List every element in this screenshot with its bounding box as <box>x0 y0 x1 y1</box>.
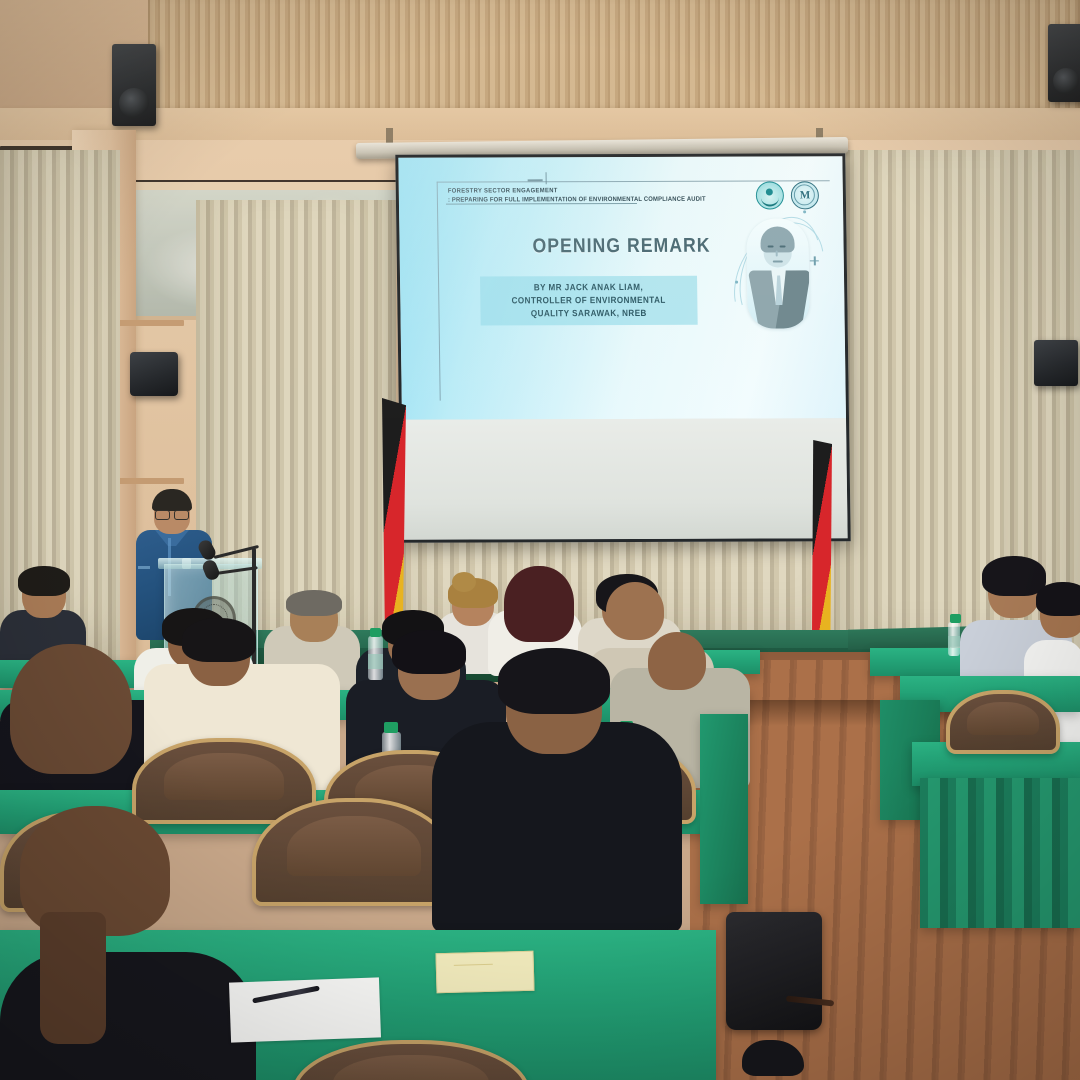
slide-subtitle-line-3: QUALITY SARAWAK, NREB <box>495 306 683 319</box>
presenter-hair <box>152 489 192 511</box>
backpack <box>726 912 822 1030</box>
yellow-notepad <box>435 951 534 994</box>
slide-header-line-1: FORESTRY SECTOR ENGAGEMENT <box>448 187 710 195</box>
speaker-cone <box>1053 68 1079 94</box>
dot-accent-icon <box>803 210 806 213</box>
bottle-label <box>948 636 960 648</box>
audience-hair <box>182 618 256 662</box>
conference-hall-photo: FORESTRY SECTOR ENGAGEMENT : PREPARING F… <box>0 0 1080 1080</box>
environment-board-logo-icon <box>755 181 783 209</box>
audience-hair <box>10 644 132 774</box>
portrait-hair <box>760 226 794 252</box>
table-skirt <box>920 778 1080 928</box>
audience-hair <box>498 648 610 714</box>
slide-subtitle-box: BY MR JACK ANAK LIAM, CONTROLLER OF ENVI… <box>480 276 697 326</box>
monogram-glyph: M <box>800 189 810 201</box>
loudspeaker-icon <box>1034 340 1078 386</box>
slide-subtitle-line-1: BY MR JACK ANAK LIAM, <box>494 281 682 294</box>
presenter-sleeve-stripe <box>138 566 150 569</box>
loudspeaker-icon <box>112 44 156 126</box>
audience-ponytail <box>40 912 106 1044</box>
audience-hair <box>504 566 574 642</box>
screen-blank-area <box>402 418 848 540</box>
loudspeaker-icon <box>1048 24 1080 102</box>
projection-screen: FORESTRY SECTOR ENGAGEMENT : PREPARING F… <box>358 140 838 530</box>
bottle-label <box>368 654 383 669</box>
audience-hair <box>982 556 1046 596</box>
audience-hair <box>1036 582 1080 616</box>
audience-hair <box>18 566 70 596</box>
slide-footnote-line-1 <box>450 382 494 390</box>
audience-torso <box>0 952 256 1080</box>
banquet-chair <box>946 690 1060 754</box>
speaker-cone <box>119 88 149 118</box>
portrait-mouth <box>773 260 783 262</box>
water-bottle <box>948 622 960 656</box>
speaker-portrait-illustration <box>740 214 816 332</box>
slide-header: FORESTRY SECTOR ENGAGEMENT : PREPARING F… <box>448 187 732 203</box>
slide-footnote-line-2 <box>450 390 494 398</box>
water-bottle <box>368 636 383 680</box>
portrait-nose <box>776 250 778 256</box>
audience-head <box>606 582 664 640</box>
table-skirt <box>700 714 748 904</box>
slide-header-line-2: : PREPARING FOR FULL IMPLEMENTATION OF E… <box>448 195 710 203</box>
screen-surface: FORESTRY SECTOR ENGAGEMENT : PREPARING F… <box>395 153 850 543</box>
audience-hair-bun <box>452 572 476 592</box>
dot-accent-icon <box>735 280 738 283</box>
audience-head <box>648 632 706 690</box>
ribbed-ceiling-panel <box>148 0 1080 118</box>
portrait-eye <box>780 245 786 248</box>
glasses-icon <box>155 510 189 518</box>
notepad-rule <box>454 963 492 965</box>
portrait-frame <box>746 218 810 328</box>
bottle-cap <box>370 628 381 637</box>
bottle-cap <box>384 722 398 733</box>
slide-tick-mark <box>545 172 547 184</box>
sarawak-flag <box>812 440 832 640</box>
slide-footnote <box>450 382 494 398</box>
slide-logo-group: M <box>755 181 818 209</box>
plus-accent-icon <box>810 256 819 265</box>
audience-hair <box>286 590 342 616</box>
bottle-cap <box>950 614 961 623</box>
loudspeaker-icon <box>130 352 178 396</box>
audience-hair <box>392 630 466 674</box>
presentation-slide: FORESTRY SECTOR ENGAGEMENT : PREPARING F… <box>398 156 846 419</box>
slide-tick-mark <box>527 179 542 181</box>
sarawak-flag <box>382 398 406 640</box>
banquet-chair <box>252 798 456 906</box>
slide-subtitle-line-2: CONTROLLER OF ENVIRONMENTAL <box>495 294 683 307</box>
monogram-logo-icon: M <box>790 181 818 209</box>
portrait-eye <box>768 245 774 248</box>
